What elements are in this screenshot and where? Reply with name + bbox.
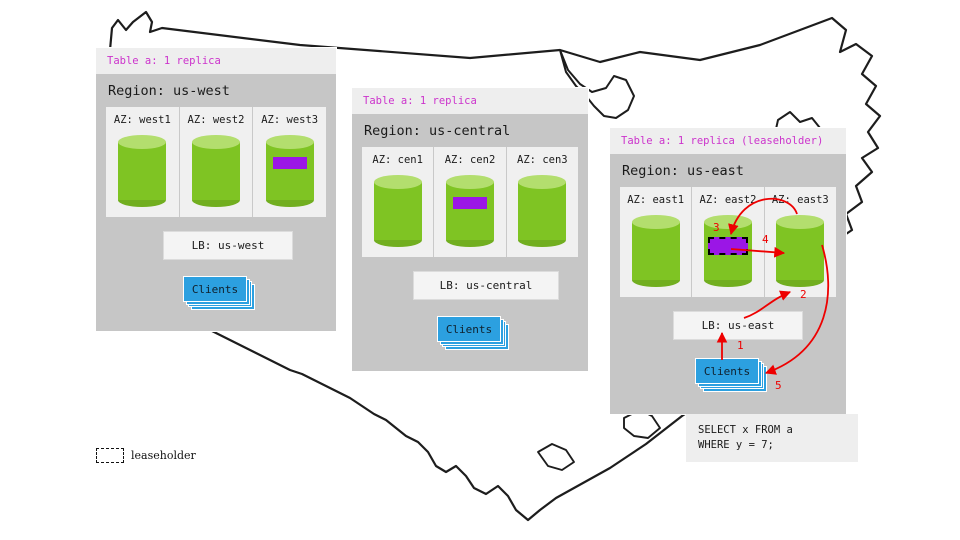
az-label: AZ: cen2 [434, 154, 505, 166]
node-cylinder-east2[interactable] [704, 215, 752, 287]
load-balancer-us-east[interactable]: LB: us-east [674, 312, 802, 339]
region-title-us-central: Region: us-central [352, 114, 588, 147]
clients-us-east[interactable]: Clients [696, 359, 758, 383]
node-cylinder-west2[interactable] [192, 135, 240, 207]
dashed-rect-icon [96, 448, 124, 463]
diagram-canvas: Table a: 1 replica Region: us-west AZ: w… [0, 0, 960, 540]
az-cell-west2[interactable]: AZ: west2 [179, 107, 253, 217]
az-cell-east2[interactable]: AZ: east2 [691, 187, 763, 297]
az-label: AZ: east1 [620, 194, 691, 206]
az-label: AZ: west1 [106, 114, 179, 126]
node-cylinder-cen2[interactable] [446, 175, 494, 247]
table-replica-label: Table a: 1 replica [107, 55, 326, 67]
panel-header-us-central: Table a: 1 replica [352, 88, 588, 114]
az-strip-us-west: AZ: west1 AZ: west2 AZ: west3 [106, 107, 326, 217]
sql-query-box: SELECT x FROM a WHERE y = 7; [686, 414, 858, 462]
clients-button-label[interactable]: Clients [184, 277, 246, 301]
node-cylinder-east3[interactable] [776, 215, 824, 287]
region-panel-us-east[interactable]: Table a: 1 replica (leaseholder) Region:… [610, 128, 846, 414]
clients-button-label[interactable]: Clients [438, 317, 500, 341]
region-title-us-west: Region: us-west [96, 74, 336, 107]
az-cell-cen1[interactable]: AZ: cen1 [362, 147, 433, 257]
az-cell-cen2[interactable]: AZ: cen2 [433, 147, 505, 257]
clients-us-west[interactable]: Clients [184, 277, 246, 301]
node-cylinder-cen3[interactable] [518, 175, 566, 247]
az-label: AZ: east3 [765, 194, 836, 206]
replica-marker-west3[interactable] [273, 157, 307, 169]
az-cell-east1[interactable]: AZ: east1 [620, 187, 691, 297]
region-panel-us-central[interactable]: Table a: 1 replica Region: us-central AZ… [352, 88, 588, 371]
az-cell-west3[interactable]: AZ: west3 [252, 107, 326, 217]
load-balancer-us-west[interactable]: LB: us-west [164, 232, 292, 259]
table-replica-label: Table a: 1 replica (leaseholder) [621, 135, 836, 147]
az-strip-us-central: AZ: cen1 AZ: cen2 AZ: cen3 [362, 147, 578, 257]
replica-marker-cen2[interactable] [453, 197, 487, 209]
clients-us-central[interactable]: Clients [438, 317, 500, 341]
clients-button-label[interactable]: Clients [696, 359, 758, 383]
node-cylinder-cen1[interactable] [374, 175, 422, 247]
leaseholder-replica-marker-east2[interactable] [708, 237, 748, 255]
az-label: AZ: east2 [692, 194, 763, 206]
legend: leaseholder [96, 448, 196, 463]
node-cylinder-west3[interactable] [266, 135, 314, 207]
load-balancer-us-central[interactable]: LB: us-central [414, 272, 558, 299]
node-cylinder-east1[interactable] [632, 215, 680, 287]
az-cell-west1[interactable]: AZ: west1 [106, 107, 179, 217]
az-cell-cen3[interactable]: AZ: cen3 [506, 147, 578, 257]
az-cell-east3[interactable]: AZ: east3 [764, 187, 836, 297]
az-label: AZ: cen1 [362, 154, 433, 166]
legend-label: leaseholder [131, 449, 196, 462]
az-label: AZ: west3 [253, 114, 326, 126]
region-title-us-east: Region: us-east [610, 154, 846, 187]
panel-header-us-west: Table a: 1 replica [96, 48, 336, 74]
az-strip-us-east: AZ: east1 AZ: east2 AZ: east3 [620, 187, 836, 297]
region-panel-us-west[interactable]: Table a: 1 replica Region: us-west AZ: w… [96, 48, 336, 331]
panel-header-us-east: Table a: 1 replica (leaseholder) [610, 128, 846, 154]
az-label: AZ: west2 [180, 114, 253, 126]
node-cylinder-west1[interactable] [118, 135, 166, 207]
az-label: AZ: cen3 [507, 154, 578, 166]
table-replica-label: Table a: 1 replica [363, 95, 578, 107]
